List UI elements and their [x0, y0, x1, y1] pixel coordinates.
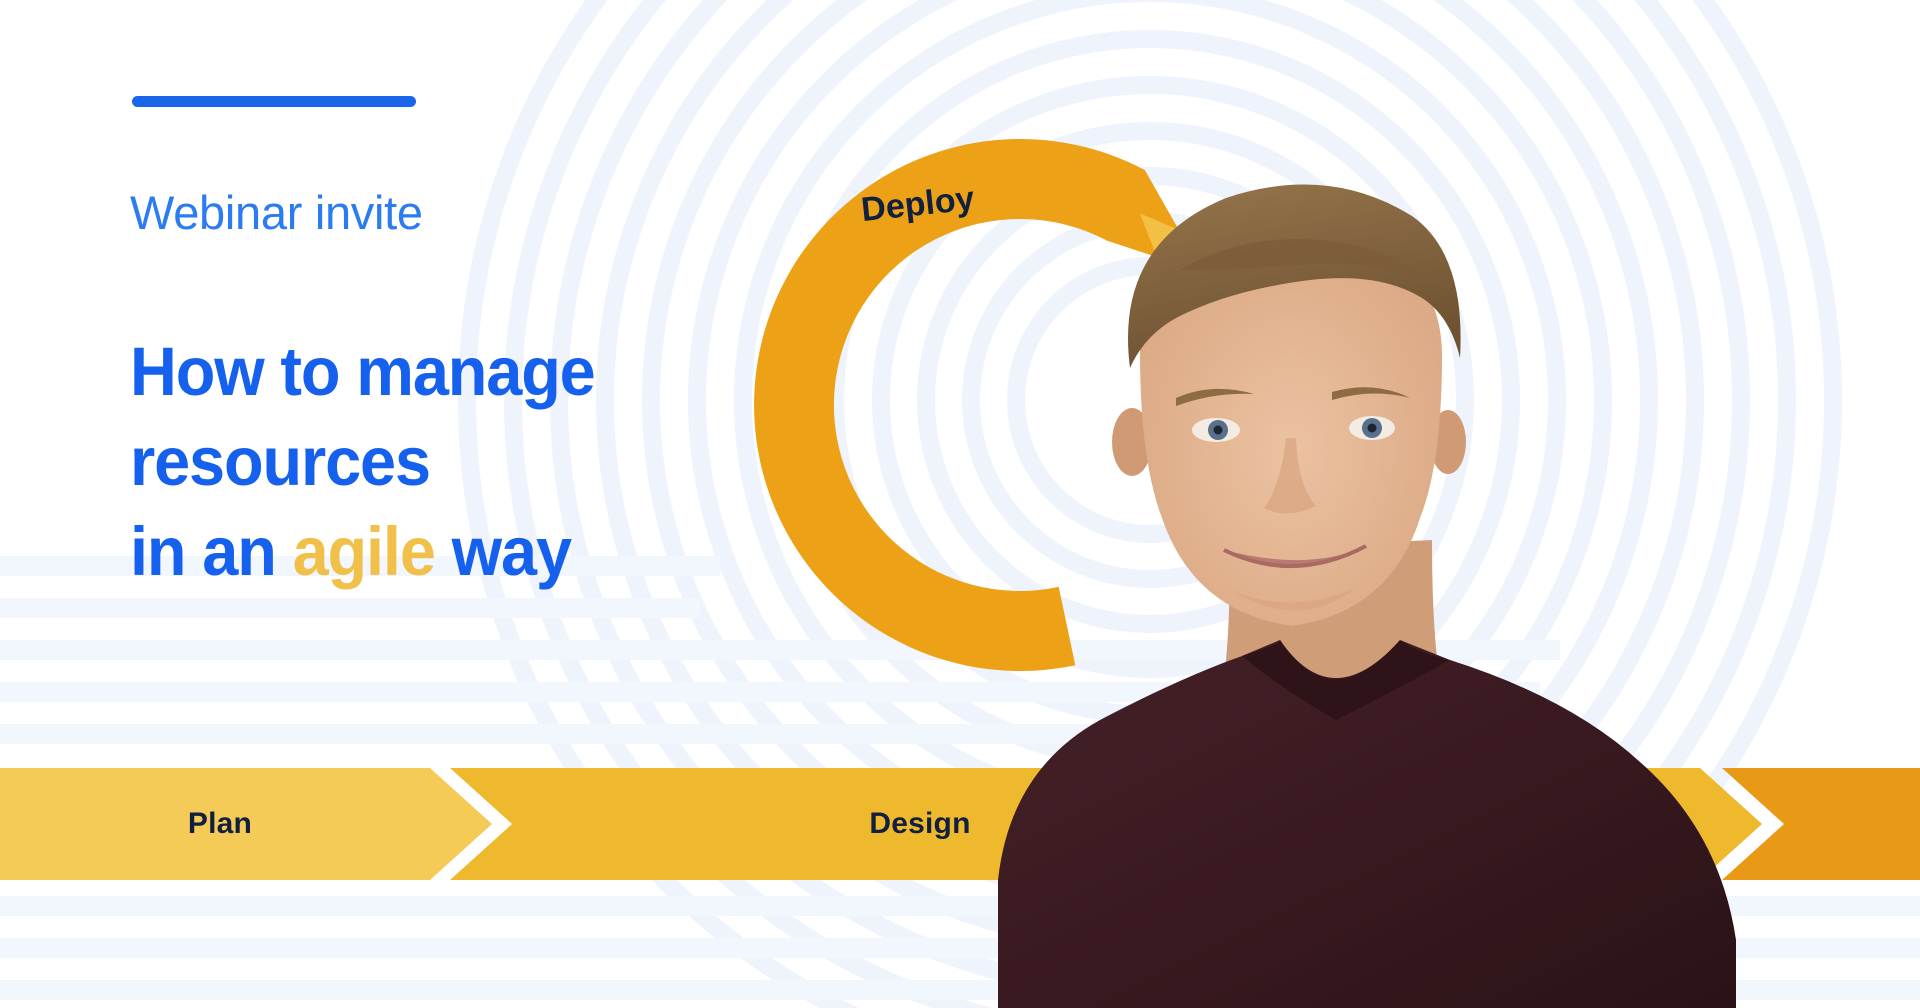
headline-line-1: How to manage [130, 327, 595, 417]
eyebrow-text: Webinar invite [130, 185, 423, 240]
left-pupil-core-shape [1214, 426, 1223, 435]
plan-label-text: Plan [188, 807, 252, 841]
headline-line-3: in an agile way [130, 507, 595, 597]
right-pupil-core-shape [1368, 424, 1377, 433]
design-label-text: Design [869, 807, 970, 841]
stripe-7 [0, 598, 700, 618]
plan-stage-label: Plan [0, 768, 440, 880]
headline-line-2: resources [130, 417, 595, 507]
webinar-invite-banner: Deploy Plan Design [0, 0, 1920, 1008]
page-title: How to manage resources in an agile way [130, 327, 595, 597]
accent-bar [132, 96, 416, 107]
speaker-portrait-photo [980, 120, 1740, 1008]
